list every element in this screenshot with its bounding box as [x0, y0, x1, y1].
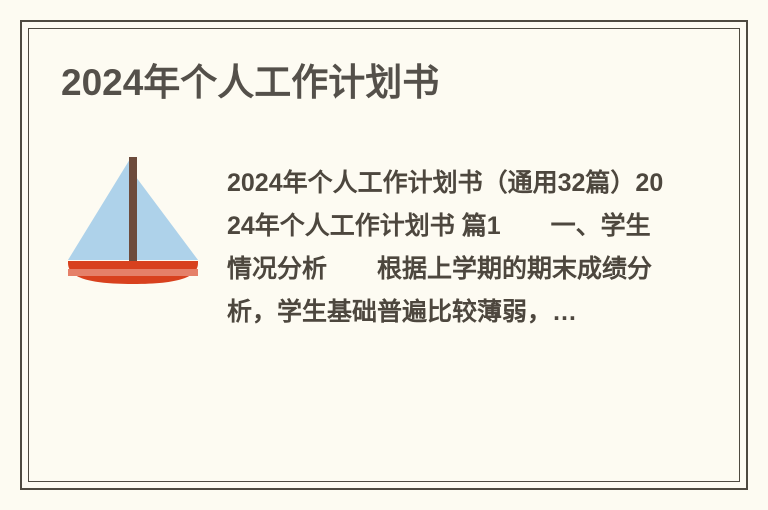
document-body-text: 2024年个人工作计划书（通用32篇）2024年个人工作计划书 篇1 一、学生情…	[227, 162, 669, 334]
hull-stripe-icon	[68, 269, 198, 276]
right-sail-icon	[136, 177, 198, 260]
document-preview-card: 2024年个人工作计划书 2024年个人工作计划书（通用32篇）2024年个人工…	[0, 0, 768, 510]
page-title: 2024年个人工作计划书	[61, 62, 439, 105]
sailboat-illustration	[66, 155, 200, 285]
mast-icon	[129, 157, 137, 272]
left-sail-icon	[68, 159, 130, 260]
